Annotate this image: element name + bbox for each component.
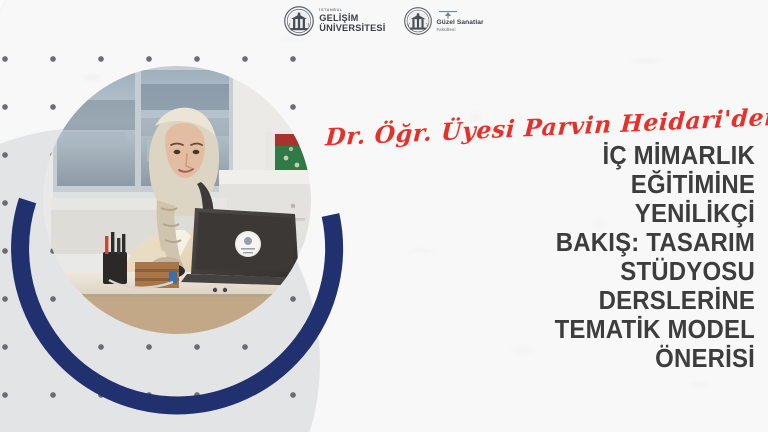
university-logo-text: İSTANBUL GELİŞİM ÜNİVERSİTESİ: [319, 9, 385, 33]
headline-block: Dr. Öğr. Üyesi Parvin Heidari'den İÇ MİM…: [325, 104, 755, 375]
university-seal-icon: [284, 6, 314, 36]
university-logo: İSTANBUL GELİŞİM ÜNİVERSİTESİ: [284, 6, 385, 36]
university-seal-icon: [404, 7, 432, 35]
title-line: STÜDYOSU: [351, 258, 755, 287]
title-line: ÖNERİSİ: [351, 345, 755, 374]
faculty-line2: Fakültesi: [437, 28, 484, 32]
title-line: İÇ MİMARLIK: [351, 142, 755, 171]
title-line: YENİLİKÇİ: [351, 200, 755, 229]
faculty-mark-icon: [437, 10, 459, 19]
title-line: EĞİTİMİNE: [351, 171, 755, 200]
title-line: DERSLERİNE: [351, 287, 755, 316]
poster-title: İÇ MİMARLIK EĞİTİMİNE YENİLİKÇİ BAKIŞ: T…: [351, 142, 755, 375]
university-line2: ÜNİVERSİTESİ: [319, 24, 385, 33]
faculty-logo: Güzel Sanatlar Fakültesi: [404, 7, 484, 35]
title-line: TEMATİK MODEL: [351, 316, 755, 345]
faculty-line1: Güzel Sanatlar: [437, 20, 484, 27]
university-superline: İSTANBUL: [319, 9, 385, 13]
title-line: BAKIŞ: TASARIM: [351, 229, 755, 258]
faculty-logo-text: Güzel Sanatlar Fakültesi: [437, 10, 484, 32]
poster-root: İSTANBUL GELİŞİM ÜNİVERSİTESİ: [0, 0, 768, 432]
logo-bar: İSTANBUL GELİŞİM ÜNİVERSİTESİ: [0, 6, 768, 36]
navy-ring-decoration: [0, 96, 361, 432]
